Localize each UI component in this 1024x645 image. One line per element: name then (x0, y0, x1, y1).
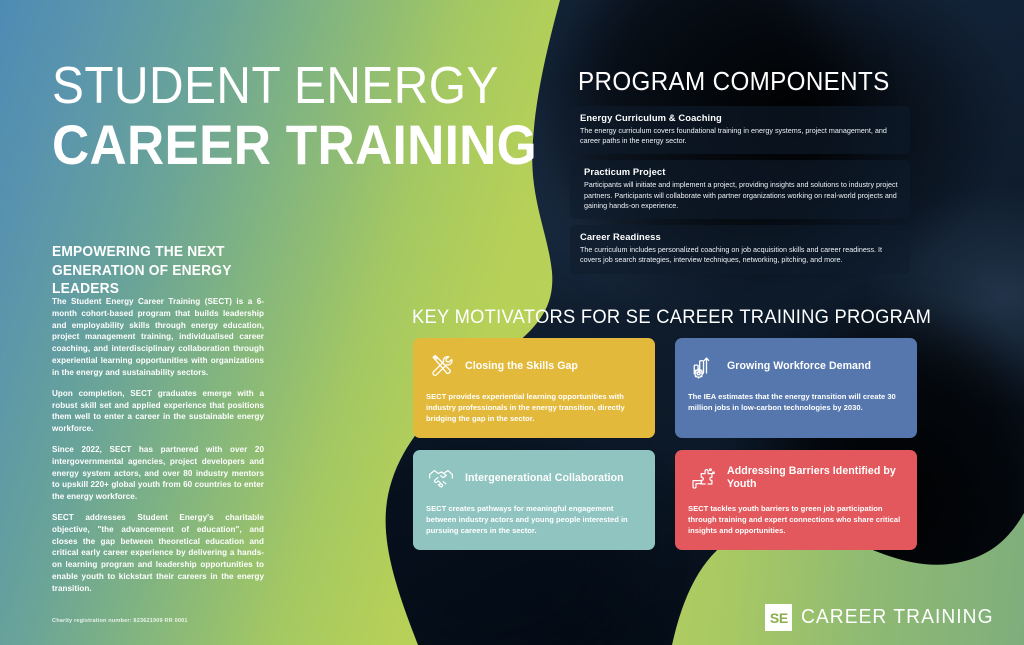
motivator-card-body: SECT provides experiential learning oppo… (426, 391, 642, 424)
intro-paragraph-4: SECT addresses Student Energy's charitab… (52, 512, 264, 595)
headline-line-2: CAREER TRAINING (52, 118, 484, 172)
motivator-card-closing-skills-gap: Closing the Skills Gap SECT provides exp… (413, 338, 655, 438)
program-component-item: Practicum Project Participants will init… (570, 160, 910, 219)
subheadline: EMPOWERING THE NEXT GENERATION OF ENERGY… (52, 243, 280, 299)
headline-line-1: STUDENT ENERGY (52, 62, 484, 112)
program-component-heading: Practicum Project (584, 166, 900, 177)
motivator-card-heading: Growing Workforce Demand (727, 360, 871, 373)
intro-paragraph-3: Since 2022, SECT has partnered with over… (52, 444, 264, 503)
program-component-heading: Energy Curriculum & Coaching (580, 112, 900, 123)
program-components-title: PROGRAM COMPONENTS (578, 68, 890, 94)
program-components-list: Energy Curriculum & Coaching The energy … (570, 106, 910, 280)
motivator-card-heading: Intergenerational Collaboration (465, 472, 624, 485)
intro-paragraph-1: The Student Energy Career Training (SECT… (52, 296, 264, 379)
charity-registration-note: Charity registration number: 823621909 R… (52, 618, 188, 624)
program-component-body: Participants will initiate and implement… (584, 180, 900, 211)
tools-wrench-pencil-icon (426, 351, 456, 381)
puzzle-pieces-icon (688, 463, 718, 493)
motivator-card-body: SECT creates pathways for meaningful eng… (426, 503, 642, 536)
intro-body-column: The Student Energy Career Training (SECT… (52, 296, 264, 604)
motivator-card-growing-workforce-demand: Growing Workforce Demand The IEA estimat… (675, 338, 917, 438)
program-component-item: Energy Curriculum & Coaching The energy … (570, 106, 910, 154)
page-title: STUDENT ENERGY CAREER TRAINING (52, 62, 522, 172)
intro-paragraph-1-rest: (SECT) is a 6-month cohort-based program… (52, 297, 264, 377)
program-component-heading: Career Readiness (580, 231, 900, 242)
motivator-card-addressing-barriers: Addressing Barriers Identified by Youth … (675, 450, 917, 550)
program-component-body: The energy curriculum covers foundationa… (580, 126, 900, 146)
motivator-card-intergenerational-collaboration: Intergenerational Collaboration SECT cre… (413, 450, 655, 550)
motivator-card-header: Intergenerational Collaboration (426, 461, 642, 495)
key-motivators-grid: Closing the Skills Gap SECT provides exp… (413, 338, 917, 550)
footer-logo-text: CAREER TRAINING (801, 606, 994, 629)
motivator-card-header: Closing the Skills Gap (426, 349, 642, 383)
program-component-body: The curriculum includes personalized coa… (580, 245, 900, 265)
motivator-card-body: The IEA estimates that the energy transi… (688, 391, 904, 413)
motivator-card-header: Growing Workforce Demand (688, 349, 904, 383)
program-component-item: Career Readiness The curriculum includes… (570, 225, 910, 273)
footer-logo: SE CAREER TRAINING (765, 604, 1002, 631)
growth-chart-gear-icon (688, 351, 718, 381)
motivator-card-header: Addressing Barriers Identified by Youth (688, 461, 904, 495)
key-motivators-title: KEY MOTIVATORS FOR SE CAREER TRAINING PR… (412, 308, 931, 328)
se-logo-mark: SE (765, 604, 792, 631)
handshake-icon (426, 463, 456, 493)
motivator-card-heading: Closing the Skills Gap (465, 360, 578, 373)
motivator-card-heading: Addressing Barriers Identified by Youth (727, 465, 904, 491)
motivator-card-body: SECT tackles youth barriers to green job… (688, 503, 904, 536)
infographic-poster: STUDENT ENERGY CAREER TRAINING EMPOWERIN… (0, 0, 1024, 645)
intro-paragraph-1-bold: The Student Energy Career Training (52, 297, 200, 306)
intro-paragraph-2: Upon completion, SECT graduates emerge w… (52, 388, 264, 435)
